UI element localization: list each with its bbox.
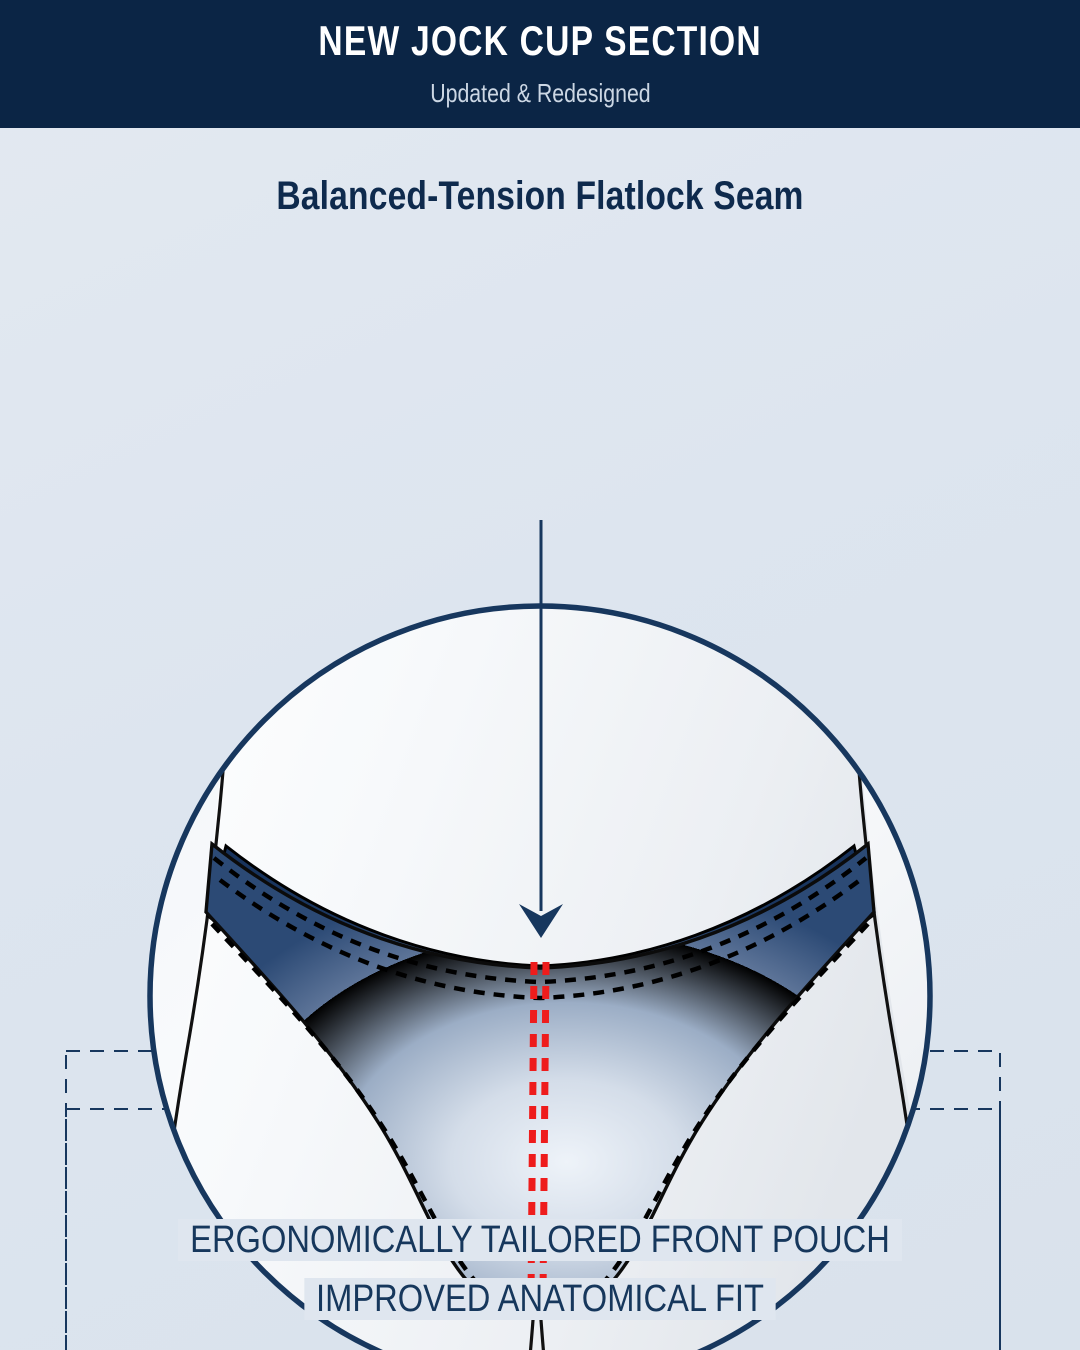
poster-root: NEW JOCK CUP SECTION Updated & Redesigne… <box>0 0 1080 1350</box>
jock-cup-illustration <box>0 128 1080 1350</box>
annotation-fit-label: IMPROVED ANATOMICAL FIT <box>304 1278 776 1320</box>
header-banner: NEW JOCK CUP SECTION Updated & Redesigne… <box>0 0 1080 128</box>
annotation-pouch-label: ERGONOMICALLY TAILORED FRONT POUCH <box>178 1219 902 1261</box>
annotation-fit: IMPROVED ANATOMICAL FIT <box>76 1278 1005 1321</box>
page-subtitle: Updated & Redesigned <box>430 78 650 109</box>
page-title: NEW JOCK CUP SECTION <box>318 19 761 63</box>
annotation-pouch: ERGONOMICALLY TAILORED FRONT POUCH <box>76 1219 1005 1262</box>
